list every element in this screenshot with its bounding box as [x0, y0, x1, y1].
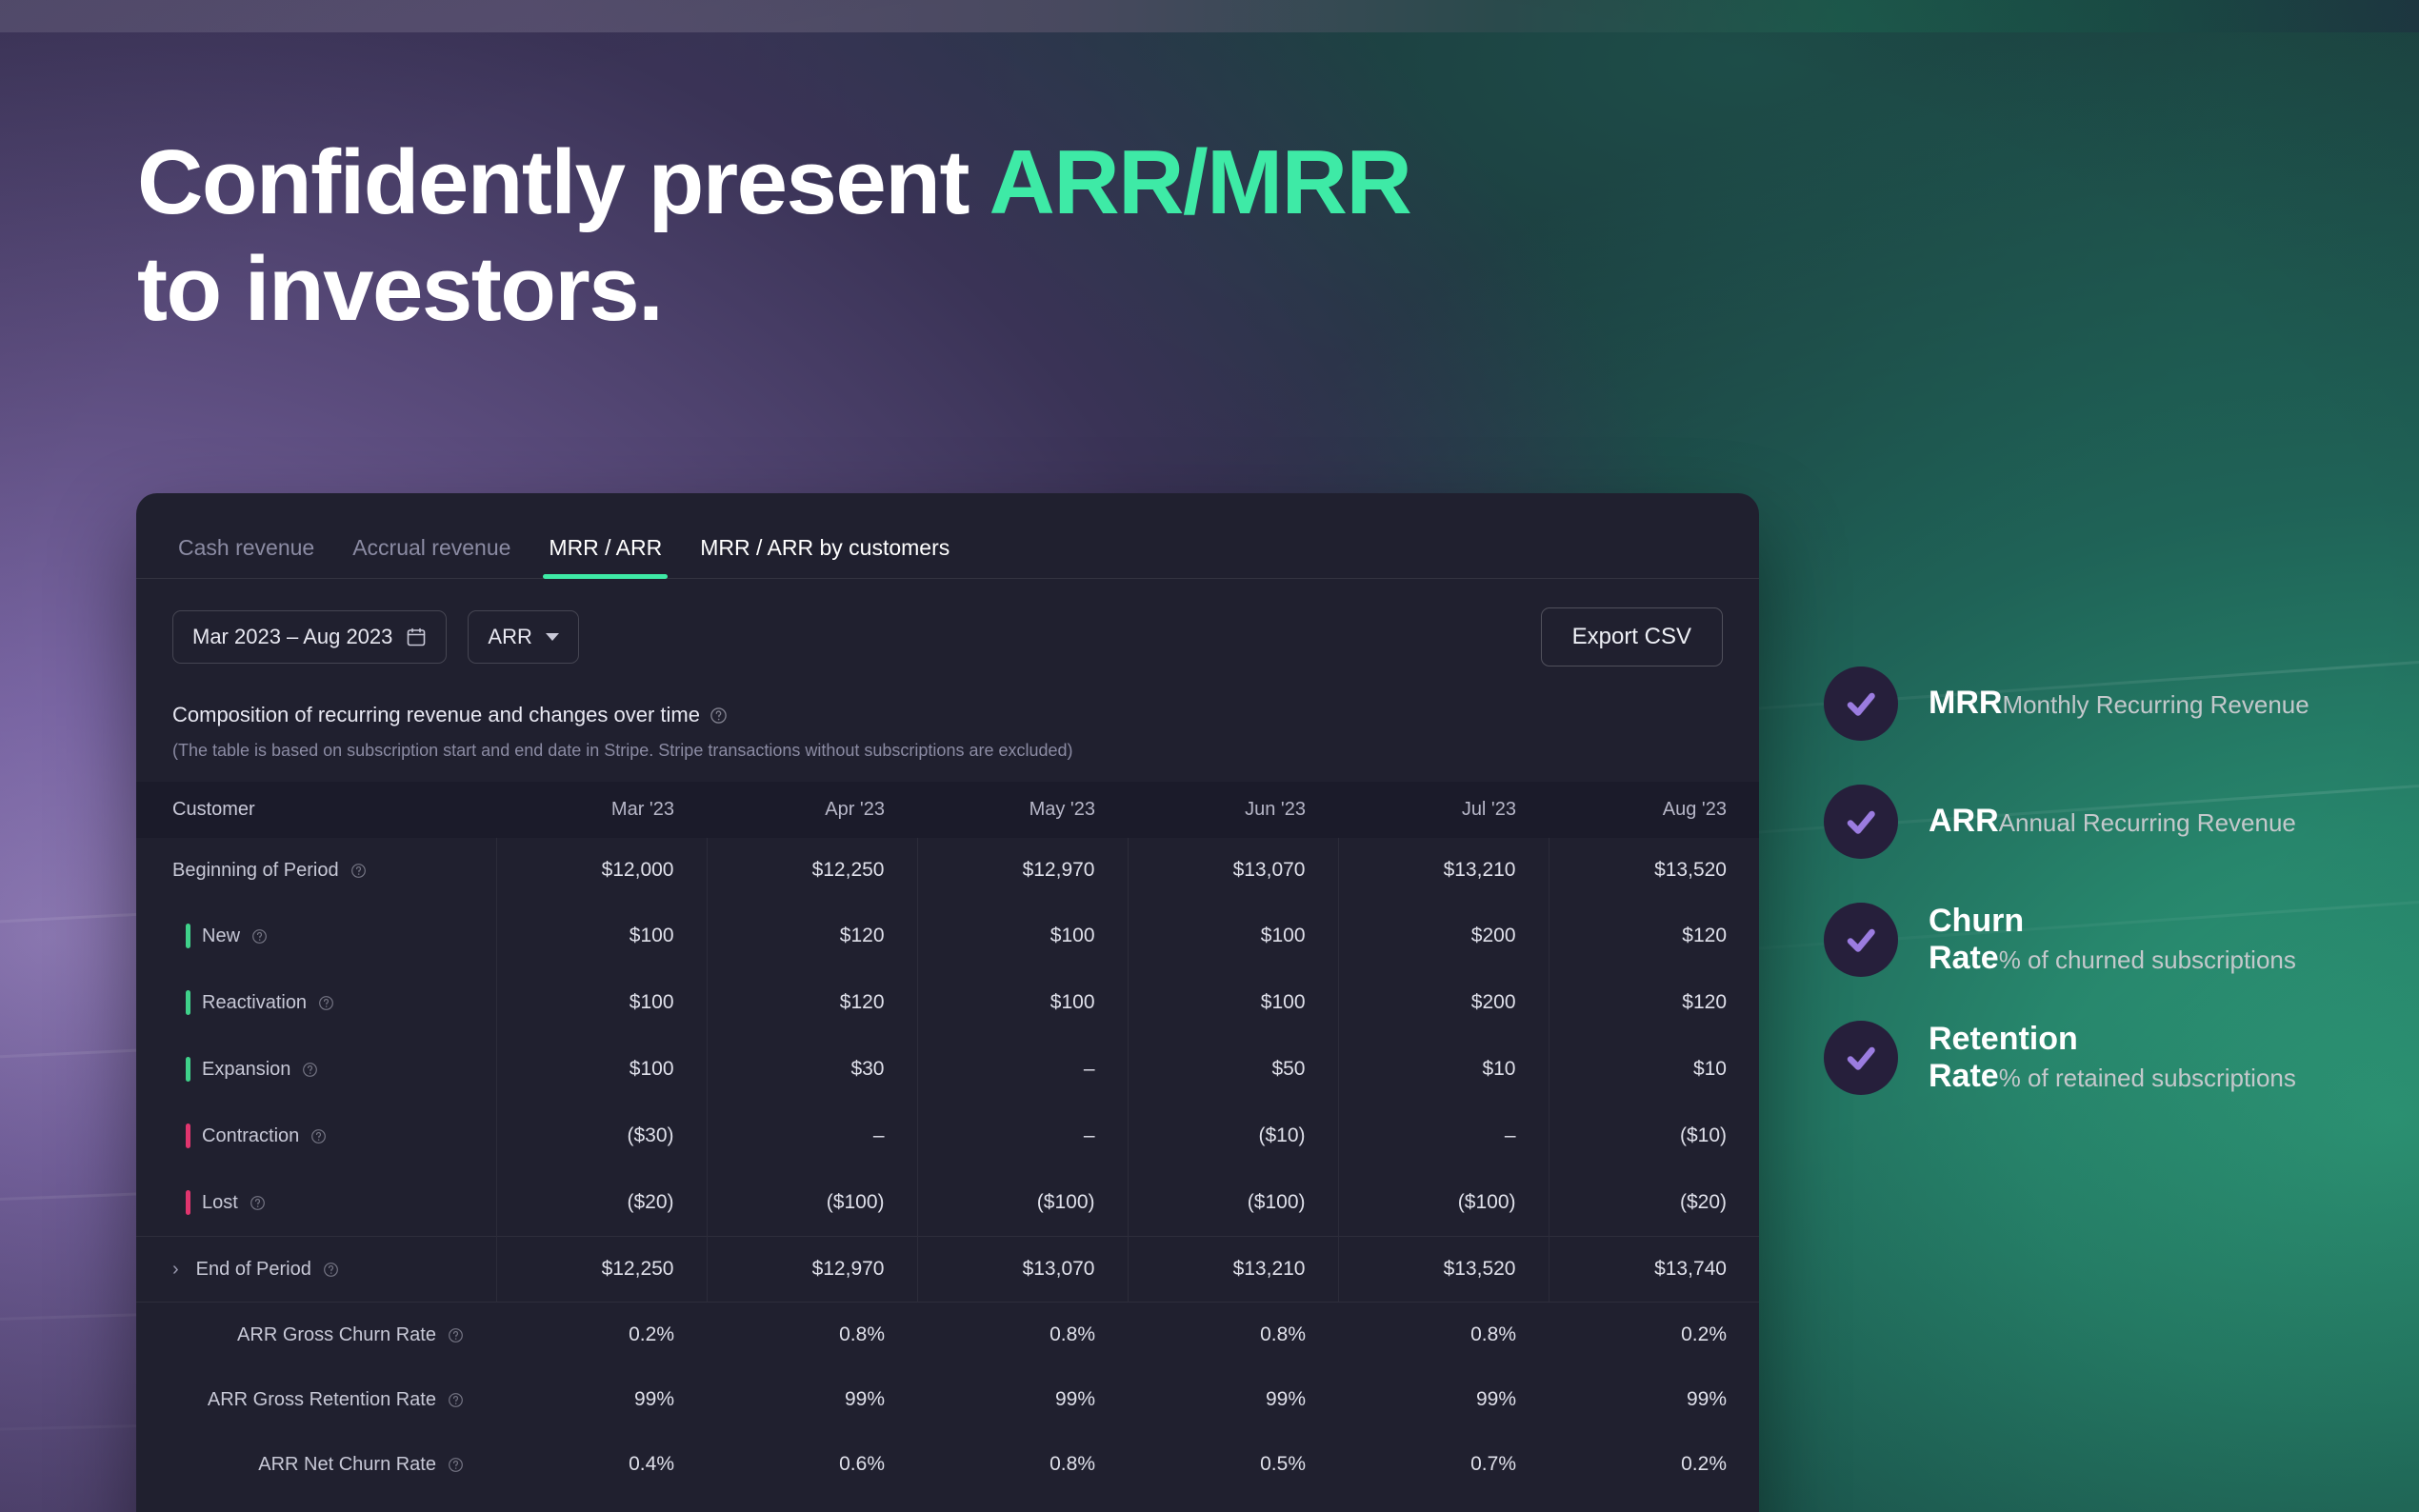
cell-new-mar-23: $100: [496, 903, 707, 969]
help-icon[interactable]: [250, 1195, 266, 1211]
help-icon[interactable]: [448, 1392, 464, 1408]
cell-beginning-of-period-jul-23: $13,210: [1338, 838, 1549, 903]
table-row: Reactivation$100$120$100$100$200$120: [136, 969, 1759, 1036]
cell-reactivation-aug-23: $120: [1549, 969, 1759, 1036]
headline-accent: ARR/MRR: [990, 131, 1411, 233]
cell-new-aug-23: $120: [1549, 903, 1759, 969]
cell-arr-net-churn-rate-mar-23: 0.4%: [496, 1432, 707, 1497]
panel-tabs: Cash revenue Accrual revenue MRR / ARR M…: [136, 493, 1759, 579]
row-label-end-of-period[interactable]: ›End of Period: [136, 1237, 496, 1303]
row-label-text: ARR Gross Retention Rate: [208, 1389, 436, 1411]
row-label-expansion: Expansion: [136, 1036, 496, 1103]
column-header-aug: Aug '23: [1549, 782, 1759, 838]
cell-arr-net-churn-rate-jun-23: 0.5%: [1128, 1432, 1338, 1497]
revenue-dashboard-panel: Cash revenue Accrual revenue MRR / ARR M…: [136, 493, 1759, 1512]
section-title: Composition of recurring revenue and cha…: [172, 703, 1723, 727]
row-label-new: New: [136, 903, 496, 969]
column-header-may: May '23: [917, 782, 1128, 838]
cell-lost-apr-23: ($100): [707, 1169, 917, 1237]
calendar-icon: [406, 627, 427, 647]
cell-lost-mar-23: ($20): [496, 1169, 707, 1237]
tab-mrr-arr[interactable]: MRR / ARR: [530, 537, 681, 578]
cell-expansion-mar-23: $100: [496, 1036, 707, 1103]
feature-title: MRR: [1929, 685, 2002, 721]
cell-arr-gross-churn-rate-jun-23: 0.8%: [1128, 1303, 1338, 1368]
cell-arr-net-churn-rate-aug-23: 0.2%: [1549, 1432, 1759, 1497]
cell-beginning-of-period-mar-23: $12,000: [496, 838, 707, 903]
cell-arr-gross-retention-rate-mar-23: 99%: [496, 1367, 707, 1432]
cell-beginning-of-period-jun-23: $13,070: [1128, 838, 1338, 903]
table-row: New$100$120$100$100$200$120: [136, 903, 1759, 969]
row-label-arr-gross-retention-rate: ARR Gross Retention Rate: [136, 1367, 496, 1432]
help-icon[interactable]: [350, 863, 367, 879]
growth-indicator-bar: [186, 1057, 190, 1082]
cell-reactivation-mar-23: $100: [496, 969, 707, 1036]
cell-end-of-period-jun-23: $13,210: [1128, 1237, 1338, 1303]
cell-end-of-period-jul-23: $13,520: [1338, 1237, 1549, 1303]
cell-contraction-may-23: –: [917, 1103, 1128, 1169]
cell-expansion-may-23: –: [917, 1036, 1128, 1103]
feature-subtitle: Annual Recurring Revenue: [1999, 808, 2296, 837]
cell-end-of-period-aug-23: $13,740: [1549, 1237, 1759, 1303]
help-icon[interactable]: [310, 1128, 327, 1144]
cell-arr-gross-churn-rate-jul-23: 0.8%: [1338, 1303, 1549, 1368]
check-icon: [1824, 785, 1898, 859]
cell-arr-gross-churn-rate-may-23: 0.8%: [917, 1303, 1128, 1368]
cell-new-may-23: $100: [917, 903, 1128, 969]
feature-subtitle: % of retained subscriptions: [1999, 1064, 2296, 1092]
row-label-text: ARR Gross Churn Rate: [237, 1324, 436, 1346]
help-icon[interactable]: [251, 928, 268, 945]
cell-arr-net-churn-rate-apr-23: 0.6%: [707, 1432, 917, 1497]
table-row: Expansion$100$30–$50$10$10: [136, 1036, 1759, 1103]
table-row: ›End of Period$12,250$12,970$13,070$13,2…: [136, 1237, 1759, 1303]
headline-line-1: Confidently present ARR/MRR: [137, 129, 1566, 236]
row-label-text: ARR Net Churn Rate: [258, 1454, 436, 1476]
help-icon[interactable]: [448, 1327, 464, 1343]
tab-mrr-arr-by-customers[interactable]: MRR / ARR by customers: [681, 537, 969, 578]
feature-item-arr: ARRAnnual Recurring Revenue: [1824, 785, 2357, 859]
cell-arr-gross-retention-rate-aug-23: 99%: [1549, 1367, 1759, 1432]
page-title: Confidently present ARR/MRR to investors…: [137, 129, 1566, 344]
cell-arr-net-churn-rate-may-23: 0.8%: [917, 1432, 1128, 1497]
feature-item-retention-rate: Retention Rate% of retained subscription…: [1824, 1021, 2357, 1095]
feature-subtitle: Monthly Recurring Revenue: [2002, 690, 2309, 719]
column-header-mar: Mar '23: [496, 782, 707, 838]
help-icon[interactable]: [448, 1457, 464, 1473]
tab-accrual-revenue[interactable]: Accrual revenue: [333, 537, 530, 578]
cell-beginning-of-period-aug-23: $13,520: [1549, 838, 1759, 903]
row-label-lost: Lost: [136, 1169, 496, 1237]
chevron-right-icon[interactable]: ›: [172, 1259, 179, 1281]
feature-text: ARRAnnual Recurring Revenue: [1929, 803, 2296, 840]
cell-arr-gross-churn-rate-aug-23: 0.2%: [1549, 1303, 1759, 1368]
cell-end-of-period-mar-23: $12,250: [496, 1237, 707, 1303]
feature-text: Churn Rate% of churned subscriptions: [1929, 903, 2357, 977]
cell-beginning-of-period-apr-23: $12,250: [707, 838, 917, 903]
decline-indicator-bar: [186, 1190, 190, 1215]
cell-expansion-jun-23: $50: [1128, 1036, 1338, 1103]
cell-contraction-mar-23: ($30): [496, 1103, 707, 1169]
section-note: (The table is based on subscription star…: [172, 741, 1723, 761]
headline-line-2: to investors.: [137, 236, 1566, 343]
row-label-text: Contraction: [202, 1125, 299, 1147]
cell-contraction-aug-23: ($10): [1549, 1103, 1759, 1169]
cell-lost-jun-23: ($100): [1128, 1169, 1338, 1237]
cell-contraction-jul-23: –: [1338, 1103, 1549, 1169]
cell-arr-gross-churn-rate-apr-23: 0.8%: [707, 1303, 917, 1368]
revenue-table-body: Beginning of Period$12,000$12,250$12,970…: [136, 838, 1759, 1497]
column-header-apr: Apr '23: [707, 782, 917, 838]
section-title-text: Composition of recurring revenue and cha…: [172, 703, 700, 727]
cell-arr-gross-churn-rate-mar-23: 0.2%: [496, 1303, 707, 1368]
row-label-arr-gross-churn-rate: ARR Gross Churn Rate: [136, 1303, 496, 1368]
cell-arr-gross-retention-rate-may-23: 99%: [917, 1367, 1128, 1432]
cell-expansion-jul-23: $10: [1338, 1036, 1549, 1103]
chevron-down-icon: [546, 633, 559, 641]
check-icon: [1824, 903, 1898, 977]
feature-title: ARR: [1929, 803, 1999, 839]
cell-contraction-apr-23: –: [707, 1103, 917, 1169]
cell-reactivation-apr-23: $120: [707, 969, 917, 1036]
date-range-picker[interactable]: Mar 2023 – Aug 2023: [172, 610, 447, 664]
feature-text: Retention Rate% of retained subscription…: [1929, 1021, 2357, 1095]
row-label-beginning-of-period: Beginning of Period: [136, 838, 496, 903]
column-header-jul: Jul '23: [1338, 782, 1549, 838]
revenue-table: Customer Mar '23 Apr '23 May '23 Jun '23…: [136, 782, 1759, 1497]
row-label-text: End of Period: [196, 1259, 311, 1281]
decline-indicator-bar: [186, 1124, 190, 1148]
table-row: ARR Gross Churn Rate0.2%0.8%0.8%0.8%0.8%…: [136, 1303, 1759, 1368]
cell-end-of-period-may-23: $13,070: [917, 1237, 1128, 1303]
cell-new-jun-23: $100: [1128, 903, 1338, 969]
feature-item-mrr: MRRMonthly Recurring Revenue: [1824, 666, 2357, 741]
metric-select[interactable]: ARR: [468, 610, 578, 664]
feature-subtitle: % of churned subscriptions: [1999, 945, 2296, 974]
cell-arr-gross-retention-rate-jun-23: 99%: [1128, 1367, 1338, 1432]
row-label-text: Expansion: [202, 1059, 290, 1081]
cell-beginning-of-period-may-23: $12,970: [917, 838, 1128, 903]
row-label-text: New: [202, 925, 240, 947]
cell-reactivation-jun-23: $100: [1128, 969, 1338, 1036]
help-icon[interactable]: [710, 706, 728, 725]
table-row: Lost($20)($100)($100)($100)($100)($20): [136, 1169, 1759, 1237]
cell-arr-net-churn-rate-jul-23: 0.7%: [1338, 1432, 1549, 1497]
row-label-arr-net-churn-rate: ARR Net Churn Rate: [136, 1432, 496, 1497]
row-label-contraction: Contraction: [136, 1103, 496, 1169]
panel-toolbar: Mar 2023 – Aug 2023 ARR Export CSV: [136, 579, 1759, 666]
help-icon[interactable]: [318, 995, 334, 1011]
cell-new-jul-23: $200: [1338, 903, 1549, 969]
table-row: Beginning of Period$12,000$12,250$12,970…: [136, 838, 1759, 903]
row-label-text: Reactivation: [202, 992, 307, 1014]
cell-reactivation-jul-23: $200: [1338, 969, 1549, 1036]
export-csv-button[interactable]: Export CSV: [1541, 607, 1723, 666]
tab-cash-revenue[interactable]: Cash revenue: [172, 537, 333, 578]
table-row: Contraction($30)––($10)–($10): [136, 1103, 1759, 1169]
headline-prefix: Confidently present: [137, 131, 990, 233]
cell-new-apr-23: $120: [707, 903, 917, 969]
cell-contraction-jun-23: ($10): [1128, 1103, 1338, 1169]
cell-arr-gross-retention-rate-apr-23: 99%: [707, 1367, 917, 1432]
row-label-text: Beginning of Period: [172, 860, 339, 882]
column-header-jun: Jun '23: [1128, 782, 1338, 838]
check-icon: [1824, 666, 1898, 741]
help-icon[interactable]: [323, 1262, 339, 1278]
cell-lost-jul-23: ($100): [1338, 1169, 1549, 1237]
check-icon: [1824, 1021, 1898, 1095]
row-label-text: Lost: [202, 1192, 238, 1214]
cell-expansion-apr-23: $30: [707, 1036, 917, 1103]
row-label-reactivation: Reactivation: [136, 969, 496, 1036]
growth-indicator-bar: [186, 924, 190, 948]
revenue-table-head: Customer Mar '23 Apr '23 May '23 Jun '23…: [136, 782, 1759, 838]
cell-reactivation-may-23: $100: [917, 969, 1128, 1036]
date-range-value: Mar 2023 – Aug 2023: [192, 625, 392, 649]
metric-select-value: ARR: [488, 625, 531, 649]
table-row: ARR Gross Retention Rate99%99%99%99%99%9…: [136, 1367, 1759, 1432]
feature-list: MRRMonthly Recurring RevenueARRAnnual Re…: [1824, 666, 2357, 1095]
cell-expansion-aug-23: $10: [1549, 1036, 1759, 1103]
growth-indicator-bar: [186, 990, 190, 1015]
table-row: ARR Net Churn Rate0.4%0.6%0.8%0.5%0.7%0.…: [136, 1432, 1759, 1497]
help-icon[interactable]: [302, 1062, 318, 1078]
column-header-customer: Customer: [136, 782, 496, 838]
cell-lost-may-23: ($100): [917, 1169, 1128, 1237]
table-header-row: Customer Mar '23 Apr '23 May '23 Jun '23…: [136, 782, 1759, 838]
cell-arr-gross-retention-rate-jul-23: 99%: [1338, 1367, 1549, 1432]
feature-item-churn-rate: Churn Rate% of churned subscriptions: [1824, 903, 2357, 977]
feature-text: MRRMonthly Recurring Revenue: [1929, 685, 2309, 722]
cell-lost-aug-23: ($20): [1549, 1169, 1759, 1237]
cell-end-of-period-apr-23: $12,970: [707, 1237, 917, 1303]
